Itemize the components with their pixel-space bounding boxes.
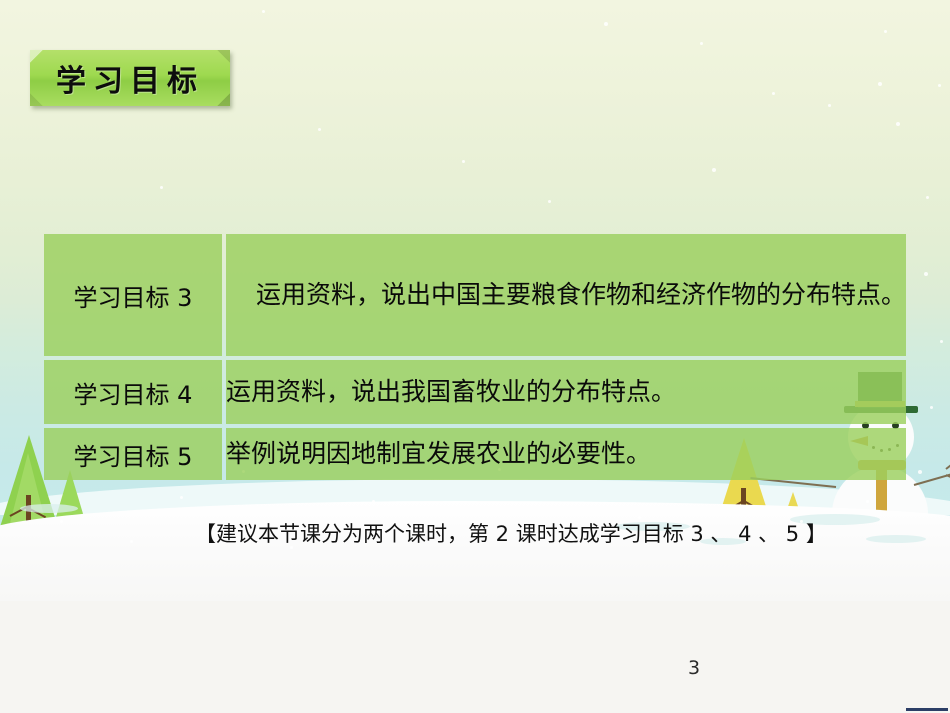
table-row: 学习目标 5 举例说明因地制宜发展农业的必要性。 <box>44 428 906 480</box>
goal-text-4: 运用资料，说出我国畜牧业的分布特点。 <box>226 360 906 424</box>
goal-text-3: 运用资料，说出中国主要粮食作物和经济作物的分布特点。 <box>226 234 906 356</box>
slide-page: 学习目标 学习目标 3 运用资料，说出中国主要粮食作物和经济作物的分布特点。 学… <box>0 0 950 713</box>
table-row: 学习目标 3 运用资料，说出中国主要粮食作物和经济作物的分布特点。 <box>44 234 906 356</box>
goal-label-3: 学习目标 3 <box>44 234 222 356</box>
goal-label-5: 学习目标 5 <box>44 428 222 480</box>
goal-text-5: 举例说明因地制宜发展农业的必要性。 <box>226 428 906 480</box>
table-row: 学习目标 4 运用资料，说出我国畜牧业的分布特点。 <box>44 360 906 424</box>
goal-label-4: 学习目标 4 <box>44 360 222 424</box>
page-number: 3 <box>688 657 700 679</box>
presentation-slide: 学习目标 学习目标 3 运用资料，说出中国主要粮食作物和经济作物的分布特点。 学… <box>0 0 950 601</box>
banner-title-text: 学习目标 <box>30 50 230 106</box>
teaching-note: 【建议本节课分为两个课时，第 2 课时达成学习目标 3 、 4 、 5 】 <box>195 519 925 551</box>
learning-objectives-banner: 学习目标 <box>30 50 230 106</box>
corner-mark <box>906 708 948 711</box>
learning-goals-table: 学习目标 3 运用资料，说出中国主要粮食作物和经济作物的分布特点。 学习目标 4… <box>40 230 910 484</box>
